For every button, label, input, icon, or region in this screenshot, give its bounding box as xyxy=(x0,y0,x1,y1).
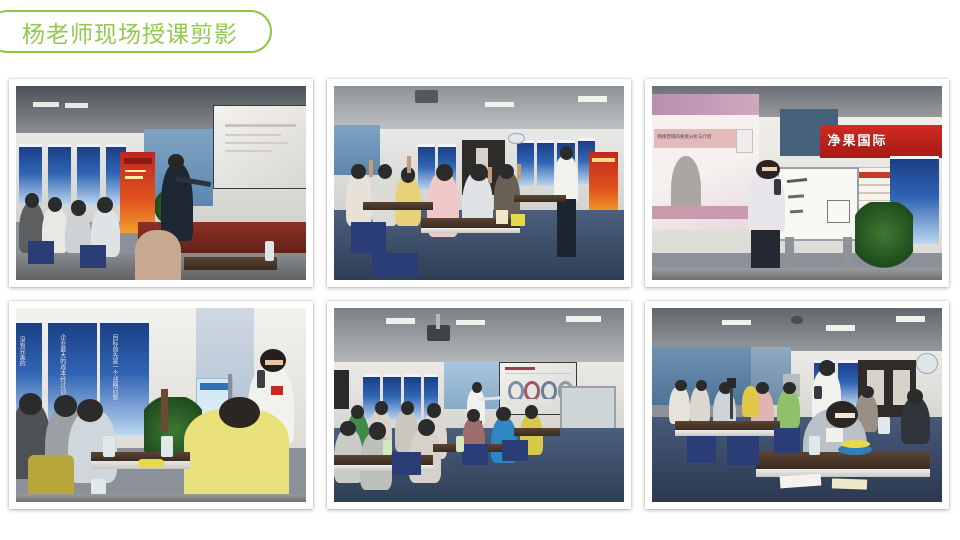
audience-head xyxy=(71,200,86,216)
desk xyxy=(514,195,566,203)
ceiling-light xyxy=(456,320,485,326)
slide-line xyxy=(225,124,296,126)
slide-line xyxy=(225,150,271,152)
page-title-pill: 杨老师现场授课剪影 xyxy=(0,10,272,53)
projection-slide: 网络营销四要素分析与介绍 xyxy=(652,94,759,230)
red-wall-banner: 净果国际 xyxy=(820,125,942,158)
raised-arm xyxy=(369,160,374,177)
wall-clock xyxy=(508,133,525,145)
student-head xyxy=(351,405,364,419)
eyeglasses xyxy=(265,360,282,365)
photo-frame-6[interactable] xyxy=(645,301,949,509)
desk xyxy=(363,202,433,210)
chair xyxy=(80,245,106,268)
student-head xyxy=(378,164,393,180)
photo-frame-2[interactable] xyxy=(327,79,631,287)
audience-head xyxy=(19,393,42,414)
chair xyxy=(462,444,488,465)
chair xyxy=(392,452,421,475)
chart-caption xyxy=(506,399,520,404)
water-bottle xyxy=(809,436,821,455)
ceiling-light xyxy=(386,318,415,324)
ceiling-light xyxy=(578,96,607,102)
handwriting xyxy=(790,210,803,213)
water-bottle xyxy=(878,417,890,434)
student-head xyxy=(861,386,874,399)
chair xyxy=(28,241,54,264)
eyeglasses xyxy=(762,167,777,171)
raised-arm xyxy=(488,167,493,183)
student xyxy=(372,171,398,225)
ceiling-light xyxy=(826,325,855,331)
banner-text: 目标首先是一个战略问题 xyxy=(110,334,119,400)
slide-line xyxy=(505,373,571,374)
slide-footer-band xyxy=(652,206,759,218)
student-head xyxy=(436,164,453,181)
student-head xyxy=(427,403,442,418)
audience-head xyxy=(54,395,77,416)
ceiling-light xyxy=(485,102,514,108)
microphone xyxy=(257,370,266,387)
photo-1-lecture-presenter-projector xyxy=(16,86,306,280)
photo-5-wide-classroom-projector xyxy=(334,308,624,502)
student xyxy=(346,171,372,225)
student-head xyxy=(499,164,514,180)
chair xyxy=(351,222,386,253)
chart-caption xyxy=(540,399,554,404)
whiteboard-leg xyxy=(843,237,852,272)
door xyxy=(334,370,349,409)
slide-line xyxy=(225,142,288,144)
handwriting xyxy=(788,194,804,198)
banana xyxy=(841,440,870,448)
foreground-audience-head xyxy=(219,397,260,428)
instructor-head xyxy=(819,360,835,376)
banana xyxy=(138,459,164,467)
plant-trunk xyxy=(161,389,168,432)
projector xyxy=(791,316,803,324)
student-head xyxy=(525,405,538,419)
desk xyxy=(756,452,930,469)
student xyxy=(777,389,800,428)
water-bottle xyxy=(383,440,392,456)
desk-edge xyxy=(421,228,520,234)
handout-paper xyxy=(832,478,867,489)
slide-header-band xyxy=(652,94,759,116)
wall-banner xyxy=(537,140,554,186)
student-head xyxy=(351,164,366,180)
photo-3-whiteboard-presentation: 网络营销四要素分析与介绍 净果国际 xyxy=(652,86,942,280)
wall-banner xyxy=(48,144,71,205)
ceiling-light xyxy=(896,316,925,322)
student-head xyxy=(375,401,388,415)
photo-frame-5[interactable] xyxy=(327,301,631,509)
slide-logo-box xyxy=(736,129,753,153)
ceiling-light xyxy=(65,103,88,108)
microphone xyxy=(814,386,821,400)
eyeglasses xyxy=(835,413,855,418)
floor xyxy=(652,268,942,280)
raised-arm xyxy=(407,156,412,173)
photo-6-students-taking-notes xyxy=(652,308,942,502)
photo-2-classroom-hands-raised xyxy=(334,86,624,280)
instructor-head xyxy=(560,146,573,160)
roll-up-banner xyxy=(589,152,618,214)
chart-caption xyxy=(523,399,537,404)
banner-header xyxy=(124,158,152,164)
student-head xyxy=(675,380,687,392)
student xyxy=(690,386,710,425)
foreground-audience-head xyxy=(135,230,181,280)
water-bottle xyxy=(265,241,274,260)
microphone xyxy=(774,179,781,195)
student-head xyxy=(470,164,487,181)
banner-line xyxy=(125,176,143,178)
banner-line xyxy=(592,158,615,162)
whiteboard-leg xyxy=(785,237,794,272)
wall-clock xyxy=(916,353,938,374)
page-title: 杨老师现场授课剪影 xyxy=(22,15,238,49)
student-head xyxy=(369,422,386,439)
instructor-legs xyxy=(557,199,576,257)
wall-banner xyxy=(838,360,858,406)
photo-frame-1[interactable] xyxy=(9,79,313,287)
projector-mount xyxy=(436,314,440,330)
presenter-head xyxy=(472,382,482,394)
slide-title-text: 网络营销四要素分析与介绍 xyxy=(657,134,711,140)
photo-frame-3[interactable]: 网络营销四要素分析与介绍 净果国际 xyxy=(645,79,949,287)
wall-banner xyxy=(77,144,100,205)
chair xyxy=(774,428,800,453)
chair xyxy=(502,440,528,461)
desk xyxy=(184,257,277,271)
student-head xyxy=(340,421,356,437)
raised-arm xyxy=(517,164,522,180)
whiteboard xyxy=(777,167,859,241)
red-banner-text: 净果国际 xyxy=(827,130,887,149)
napkin-box xyxy=(826,428,843,442)
supplies-box xyxy=(511,214,526,226)
audience-head xyxy=(97,197,113,213)
ceiling-light xyxy=(722,320,751,326)
banner-text: 没有完美的 xyxy=(17,336,26,366)
desk xyxy=(514,428,560,436)
slide-page: 杨老师现场授课剪影 xyxy=(0,0,960,540)
tripod xyxy=(730,388,733,419)
desk xyxy=(675,421,779,431)
handwriting xyxy=(786,178,807,183)
shirt-logo xyxy=(271,386,283,396)
potted-plant xyxy=(855,202,913,272)
slide-title xyxy=(505,367,535,370)
student xyxy=(669,386,689,425)
student xyxy=(742,386,759,417)
slide-line xyxy=(225,134,281,136)
standee-header xyxy=(200,383,228,389)
water-bottle xyxy=(161,436,173,457)
chair xyxy=(687,436,716,463)
handwriting-box xyxy=(827,200,849,223)
ceiling-light xyxy=(33,102,59,108)
ceiling-light xyxy=(566,316,601,322)
photo-gallery-grid: 网络营销四要素分析与介绍 净果国际 xyxy=(9,79,953,519)
water-bottle xyxy=(456,436,465,452)
student-head xyxy=(401,401,414,415)
student-head xyxy=(783,382,796,395)
photo-4-banner-wall-lecture: 没有完美的 企业最大的成本经过训练的员工 目标首先是一个战略问题 xyxy=(16,308,306,502)
photo-frame-4[interactable]: 没有完美的 企业最大的成本经过训练的员工 目标首先是一个战略问题 xyxy=(9,301,313,509)
water-bottle xyxy=(496,210,508,224)
banner-line xyxy=(125,170,146,172)
student xyxy=(901,397,930,444)
water-bottle xyxy=(103,436,115,457)
floor xyxy=(16,494,306,502)
chair xyxy=(372,253,418,278)
chair xyxy=(727,436,759,465)
bag xyxy=(28,455,74,498)
projector xyxy=(415,90,438,104)
projection-screen xyxy=(213,105,306,188)
camera xyxy=(727,378,736,388)
